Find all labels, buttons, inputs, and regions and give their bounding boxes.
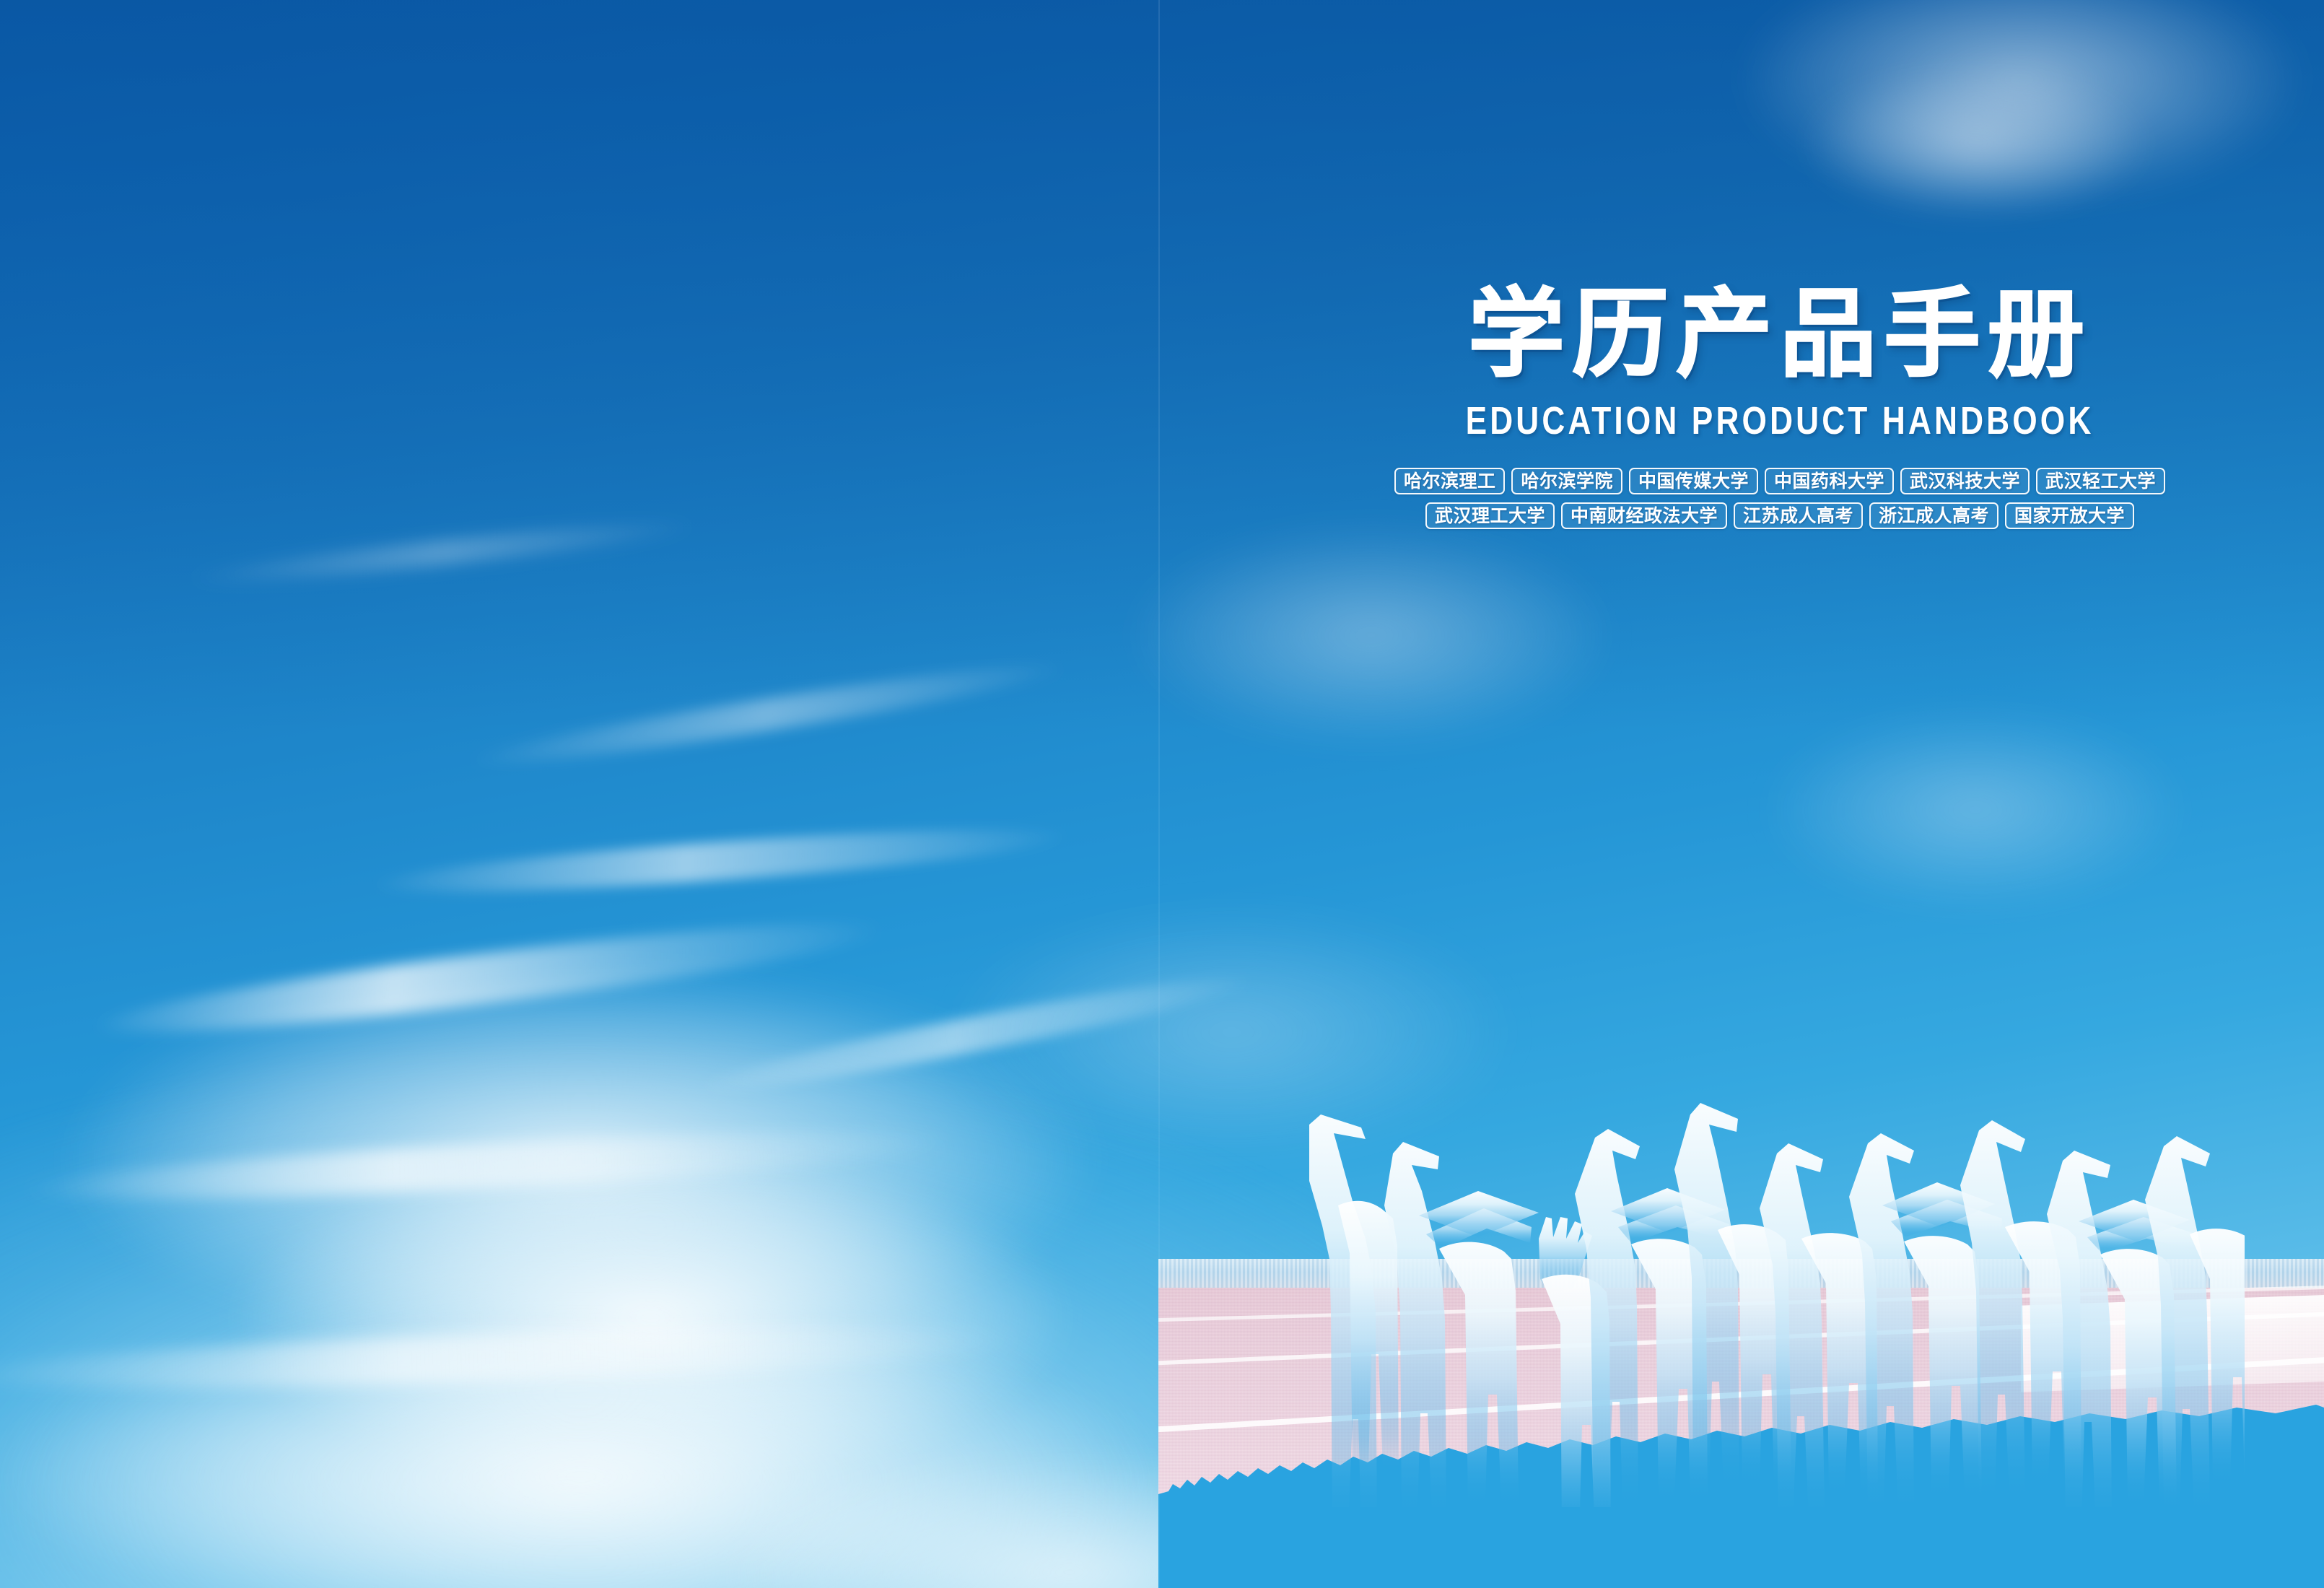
university-tag[interactable]: 浙江成人高考 — [1869, 502, 1998, 529]
cirrus-wisp-icon — [0, 1315, 1023, 1400]
university-tag-list: 哈尔滨理工 哈尔滨学院 中国传媒大学 中国药科大学 武汉科技大学 武汉轻工大学 … — [1311, 468, 2249, 529]
university-tag[interactable]: 中国传媒大学 — [1629, 468, 1758, 494]
cloud-bank-icon — [1720, 32, 2231, 254]
cirrus-wisp-icon — [466, 652, 1068, 777]
university-tag[interactable]: 武汉轻工大学 — [2036, 468, 2165, 494]
page-title-english: EDUCATION PRODUCT HANDBOOK — [1395, 401, 2164, 440]
cirrus-wisp-icon — [372, 817, 1070, 904]
brochure-spine-divider — [1158, 0, 1160, 1588]
cirrus-wisp-icon — [186, 513, 697, 592]
university-tag[interactable]: 国家开放大学 — [2005, 502, 2134, 529]
university-tag[interactable]: 武汉科技大学 — [1900, 468, 2030, 494]
brochure-cover: 学历产品手册 EDUCATION PRODUCT HANDBOOK 哈尔滨理工 … — [0, 0, 2324, 1588]
university-tag-row-1: 哈尔滨理工 哈尔滨学院 中国传媒大学 中国药科大学 武汉科技大学 武汉轻工大学 — [1394, 468, 2165, 494]
university-tag[interactable]: 武汉理工大学 — [1425, 502, 1555, 529]
university-tag[interactable]: 中南财经政法大学 — [1561, 502, 1727, 529]
university-tag[interactable]: 江苏成人高考 — [1734, 502, 1863, 529]
university-tag[interactable]: 哈尔滨理工 — [1394, 468, 1506, 494]
cirrus-wisp-icon — [93, 905, 883, 1052]
cover-text-block: 学历产品手册 EDUCATION PRODUCT HANDBOOK 哈尔滨理工 … — [1311, 283, 2249, 529]
university-tag[interactable]: 哈尔滨学院 — [1511, 468, 1622, 494]
university-tag-row-2: 武汉理工大学 中南财经政法大学 江苏成人高考 浙江成人高考 国家开放大学 — [1425, 502, 2134, 529]
page-title-chinese: 学历产品手册 — [1311, 283, 2249, 385]
cirrus-wisp-icon — [22, 1119, 953, 1212]
cloud-bank-icon — [1673, 667, 2277, 953]
graduates-silhouette — [1285, 1045, 2245, 1507]
university-tag[interactable]: 中国药科大学 — [1765, 468, 1894, 494]
